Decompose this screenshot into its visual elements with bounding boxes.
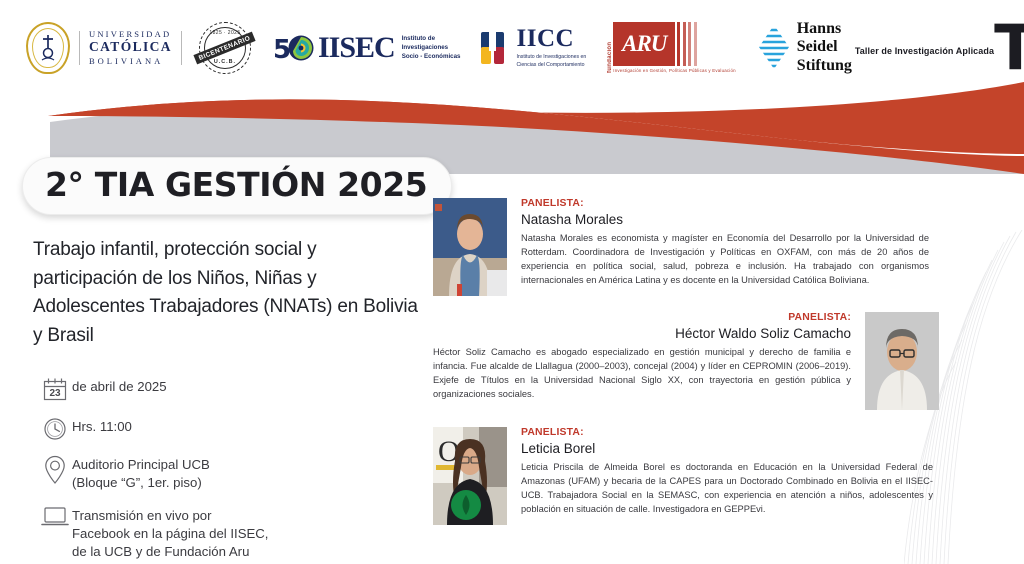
bicentenario-stamp-icon: 1825 · 2025 BICENTENARIO U.C.B. xyxy=(199,22,251,74)
hanns-line-3: Stiftung xyxy=(797,57,852,75)
iisec-wordmark: IISEC xyxy=(318,31,395,65)
sponsor-logo-strip: UNIVERSIDAD CATÓLICA BOLIVIANA 1825 · 20… xyxy=(0,0,1024,95)
detail-stream-text: Transmisión en vivo por Facebook en la p… xyxy=(72,505,268,561)
iicc-tagline: Instituto de Investigaciones en Ciencias… xyxy=(516,54,586,69)
ucb-crest-icon xyxy=(26,22,70,74)
logo-divider xyxy=(79,31,80,65)
logo-divider xyxy=(181,31,182,65)
panelist-card-2: PANELISTA: Héctor Waldo Soliz Camacho Hé… xyxy=(433,312,939,410)
logo-hanns-seidel: Hanns Seidel Stiftung xyxy=(758,20,852,74)
panelist-portrait-1-image xyxy=(433,198,507,296)
panelist-portrait-3-image: O xyxy=(433,427,507,525)
detail-venue-text: Auditorio Principal UCB (Bloque “G”, 1er… xyxy=(72,454,210,492)
calendar-icon: 23 xyxy=(42,377,68,403)
ucb-crest-emblem-icon xyxy=(36,33,60,63)
iisec-tagline: Instituto de Investigaciones Socio - Eco… xyxy=(402,34,461,62)
detail-row-venue: Auditorio Principal UCB (Bloque “G”, 1er… xyxy=(38,454,378,492)
panelist-card-3: O PANELISTA: Leticia Borel Leticia Prisc… xyxy=(433,427,933,525)
poster-canvas: UNIVERSIDAD CATÓLICA BOLIVIANA 1825 · 20… xyxy=(0,0,1024,564)
panelist-card-1: PANELISTA: Natasha Morales Natasha Moral… xyxy=(433,198,929,296)
laptop-icon xyxy=(41,506,69,528)
ucb-line-2: CATÓLICA xyxy=(89,39,172,55)
logo-tia: Taller de Investigación Aplicada TIA xyxy=(852,19,1024,76)
logo-iicc: IICC Instituto de Investigaciones en Cie… xyxy=(480,25,586,69)
detail-row-date: 23 de abril de 2025 xyxy=(38,376,378,403)
panelist-name-3: Leticia Borel xyxy=(521,441,933,456)
panelist-kicker-1: PANELISTA: xyxy=(521,198,929,209)
panelist-photo-2 xyxy=(865,312,939,410)
panelist-name-1: Natasha Morales xyxy=(521,212,929,227)
calendar-day-number: 23 xyxy=(49,388,61,399)
detail-row-stream: Transmisión en vivo por Facebook en la p… xyxy=(38,505,378,561)
ucb-wordmark: UNIVERSIDAD CATÓLICA BOLIVIANA xyxy=(89,29,172,66)
tia-tagline: Taller de Investigación Aplicada xyxy=(852,46,994,56)
aru-wordmark: ARU xyxy=(622,31,666,57)
iicc-wordmark: IICC xyxy=(516,25,586,53)
location-pin-icon xyxy=(43,455,67,485)
panelist-bio-1: Natasha Morales es economista y magíster… xyxy=(521,231,929,288)
detail-row-time: Hrs. 11:00 xyxy=(38,416,378,441)
clock-icon xyxy=(43,417,67,441)
logo-ucb: UNIVERSIDAD CATÓLICA BOLIVIANA xyxy=(26,22,191,74)
panelist-bio-3: Leticia Priscila de Almeida Borel es doc… xyxy=(521,460,933,517)
svg-text:5: 5 xyxy=(273,35,291,65)
tia-wordmark: TIA xyxy=(994,19,1024,76)
panelist-kicker-2: PANELISTA: xyxy=(433,312,851,323)
detail-date-text: de abril de 2025 xyxy=(72,376,167,396)
aru-wordmark-block: ARU xyxy=(613,22,675,66)
bicentenario-top-text: 1825 · 2025 xyxy=(209,30,240,36)
panelist-photo-3: O xyxy=(433,427,507,525)
aru-caption: Investigación en Gestión, Políticas Públ… xyxy=(613,68,735,73)
panelist-portrait-2-image xyxy=(865,312,939,410)
logo-iisec: 5 IISEC Instituto de Investigaciones Soc… xyxy=(273,31,461,65)
event-title-badge: 2° TIA GESTIÓN 2025 xyxy=(22,157,452,215)
panelist-bio-2: Héctor Soliz Camacho es abogado especial… xyxy=(433,345,851,402)
event-subtitle: Trabajo infantil, protección social y pa… xyxy=(33,236,423,350)
hanns-line-1: Hanns xyxy=(797,20,852,38)
event-details-list: 23 de abril de 2025 Hrs. 11:00 xyxy=(38,376,378,564)
logo-bicentenario: 1825 · 2025 BICENTENARIO U.C.B. xyxy=(199,22,251,74)
hanns-line-2: Seidel xyxy=(797,38,852,56)
bicentenario-bottom-text: U.C.B. xyxy=(214,59,236,65)
panelist-name-2: Héctor Waldo Soliz Camacho xyxy=(433,326,851,341)
aru-vertical-label: fundación xyxy=(606,22,613,73)
hanns-seidel-wordmark: Hanns Seidel Stiftung xyxy=(797,20,852,74)
aru-bars-icon xyxy=(677,22,697,66)
ucb-line-1: UNIVERSIDAD xyxy=(89,29,172,39)
panelist-kicker-3: PANELISTA: xyxy=(521,427,933,438)
ucb-line-3: BOLIVIANA xyxy=(89,56,172,66)
page-title: 2° TIA GESTIÓN 2025 xyxy=(45,165,427,204)
panelist-photo-1 xyxy=(433,198,507,296)
iicc-mark-icon xyxy=(480,31,510,65)
detail-time-text: Hrs. 11:00 xyxy=(72,416,132,436)
logo-aru: fundación ARU Investigación en Gestión, … xyxy=(606,22,735,73)
iisec-spiral-icon: 5 xyxy=(273,31,317,65)
hanns-seidel-diamond-icon xyxy=(758,24,790,70)
